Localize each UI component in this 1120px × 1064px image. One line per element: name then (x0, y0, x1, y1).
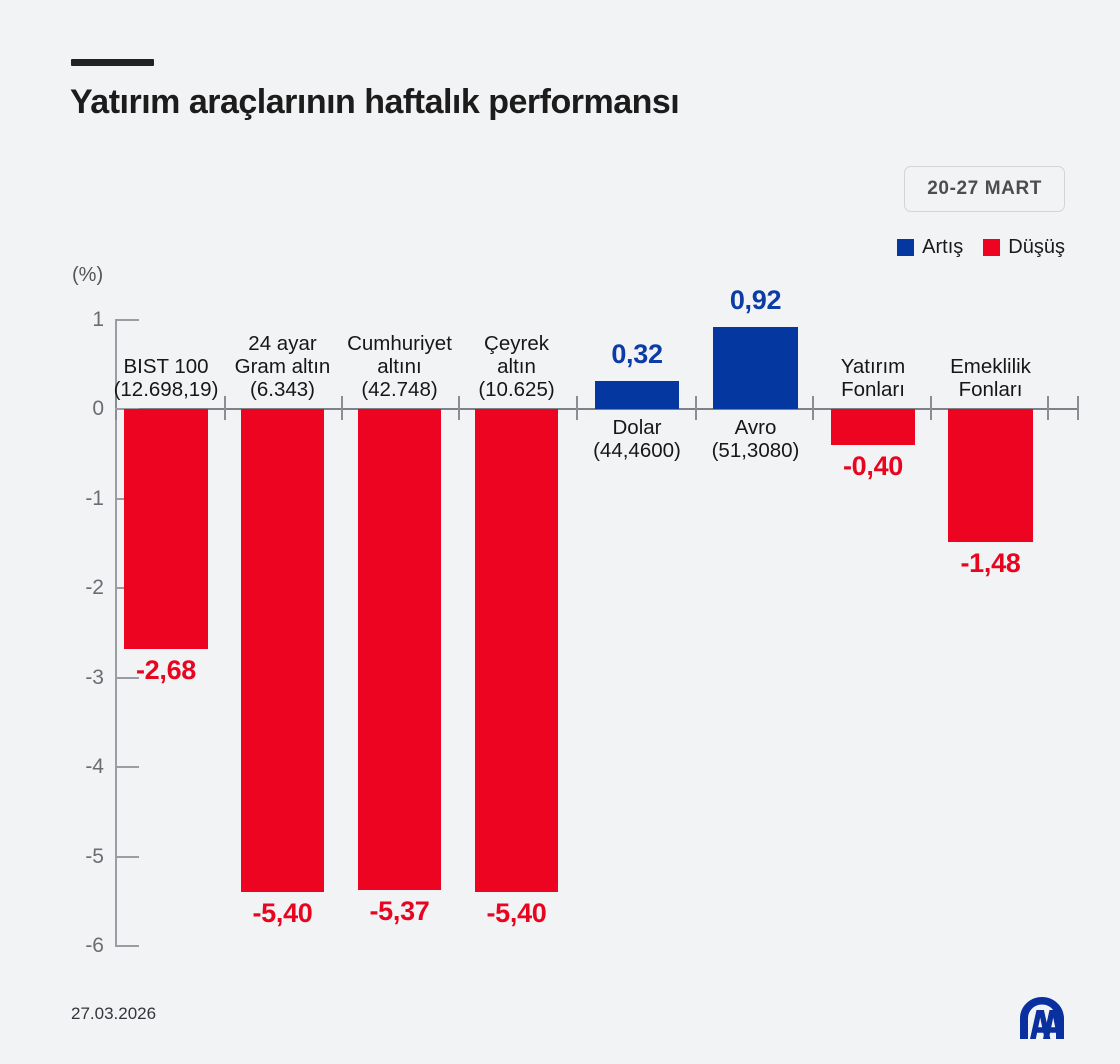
bar-value-label: -5,40 (216, 898, 349, 929)
y-axis-tick-label: 1 (0, 308, 104, 332)
bar-value-label: -5,40 (450, 898, 583, 929)
y-axis-tick (115, 945, 139, 947)
y-axis-tick-label: -5 (0, 845, 104, 869)
bar-avro[interactable] (713, 327, 798, 409)
bar-value-label: -0,40 (806, 451, 940, 482)
y-axis-unit-label: (%) (72, 264, 103, 287)
aa-logo-icon (1016, 995, 1068, 1041)
y-axis-tick-label: -1 (0, 487, 104, 511)
y-axis-tick-label: 0 (0, 397, 104, 421)
category-label-line: Fonları (916, 379, 1065, 402)
bar-24-ayar-gram-alt-n[interactable] (241, 409, 324, 892)
y-axis-tick-label: -6 (0, 934, 104, 958)
category-label-eyrek-alt-n: Çeyrekaltın(10.625) (443, 333, 590, 402)
category-label-line: Avro (681, 417, 830, 440)
y-axis-tick-label: -3 (0, 666, 104, 690)
bar-bist-100[interactable] (124, 409, 208, 649)
x-axis-tick (695, 396, 697, 420)
bar-value-label: -1,48 (923, 548, 1058, 579)
y-axis-tick (115, 856, 139, 858)
bar-dolar[interactable] (595, 381, 679, 410)
footer-date: 27.03.2026 (71, 1004, 156, 1024)
y-axis-tick (115, 766, 139, 768)
bar-value-label: -2,68 (99, 655, 233, 686)
bar-emeklilik-fonlar[interactable] (948, 409, 1033, 541)
x-axis-tick (1077, 396, 1079, 420)
category-label-line: (10.625) (443, 379, 590, 402)
category-label-line: Emeklilik (916, 356, 1065, 379)
bar-cumhuriyet-alt-n[interactable] (358, 409, 441, 889)
bar-eyrek-alt-n[interactable] (475, 409, 558, 892)
bar-value-label: 0,32 (570, 339, 704, 370)
category-label-line: altın (443, 356, 590, 379)
y-axis-tick (115, 319, 139, 321)
bar-yat-r-m-fonlar[interactable] (831, 409, 915, 445)
y-axis-tick-label: -2 (0, 576, 104, 600)
bar-chart: (%) 10-1-2-3-4-5-6-2,68BIST 100(12.698,1… (0, 0, 1120, 1064)
bar-value-label: 0,92 (688, 285, 823, 316)
category-label-emeklilik-fonlar: EmeklilikFonları (916, 356, 1065, 402)
y-axis-tick-label: -4 (0, 755, 104, 779)
bar-value-label: -5,37 (333, 896, 466, 927)
category-label-line: Çeyrek (443, 333, 590, 356)
